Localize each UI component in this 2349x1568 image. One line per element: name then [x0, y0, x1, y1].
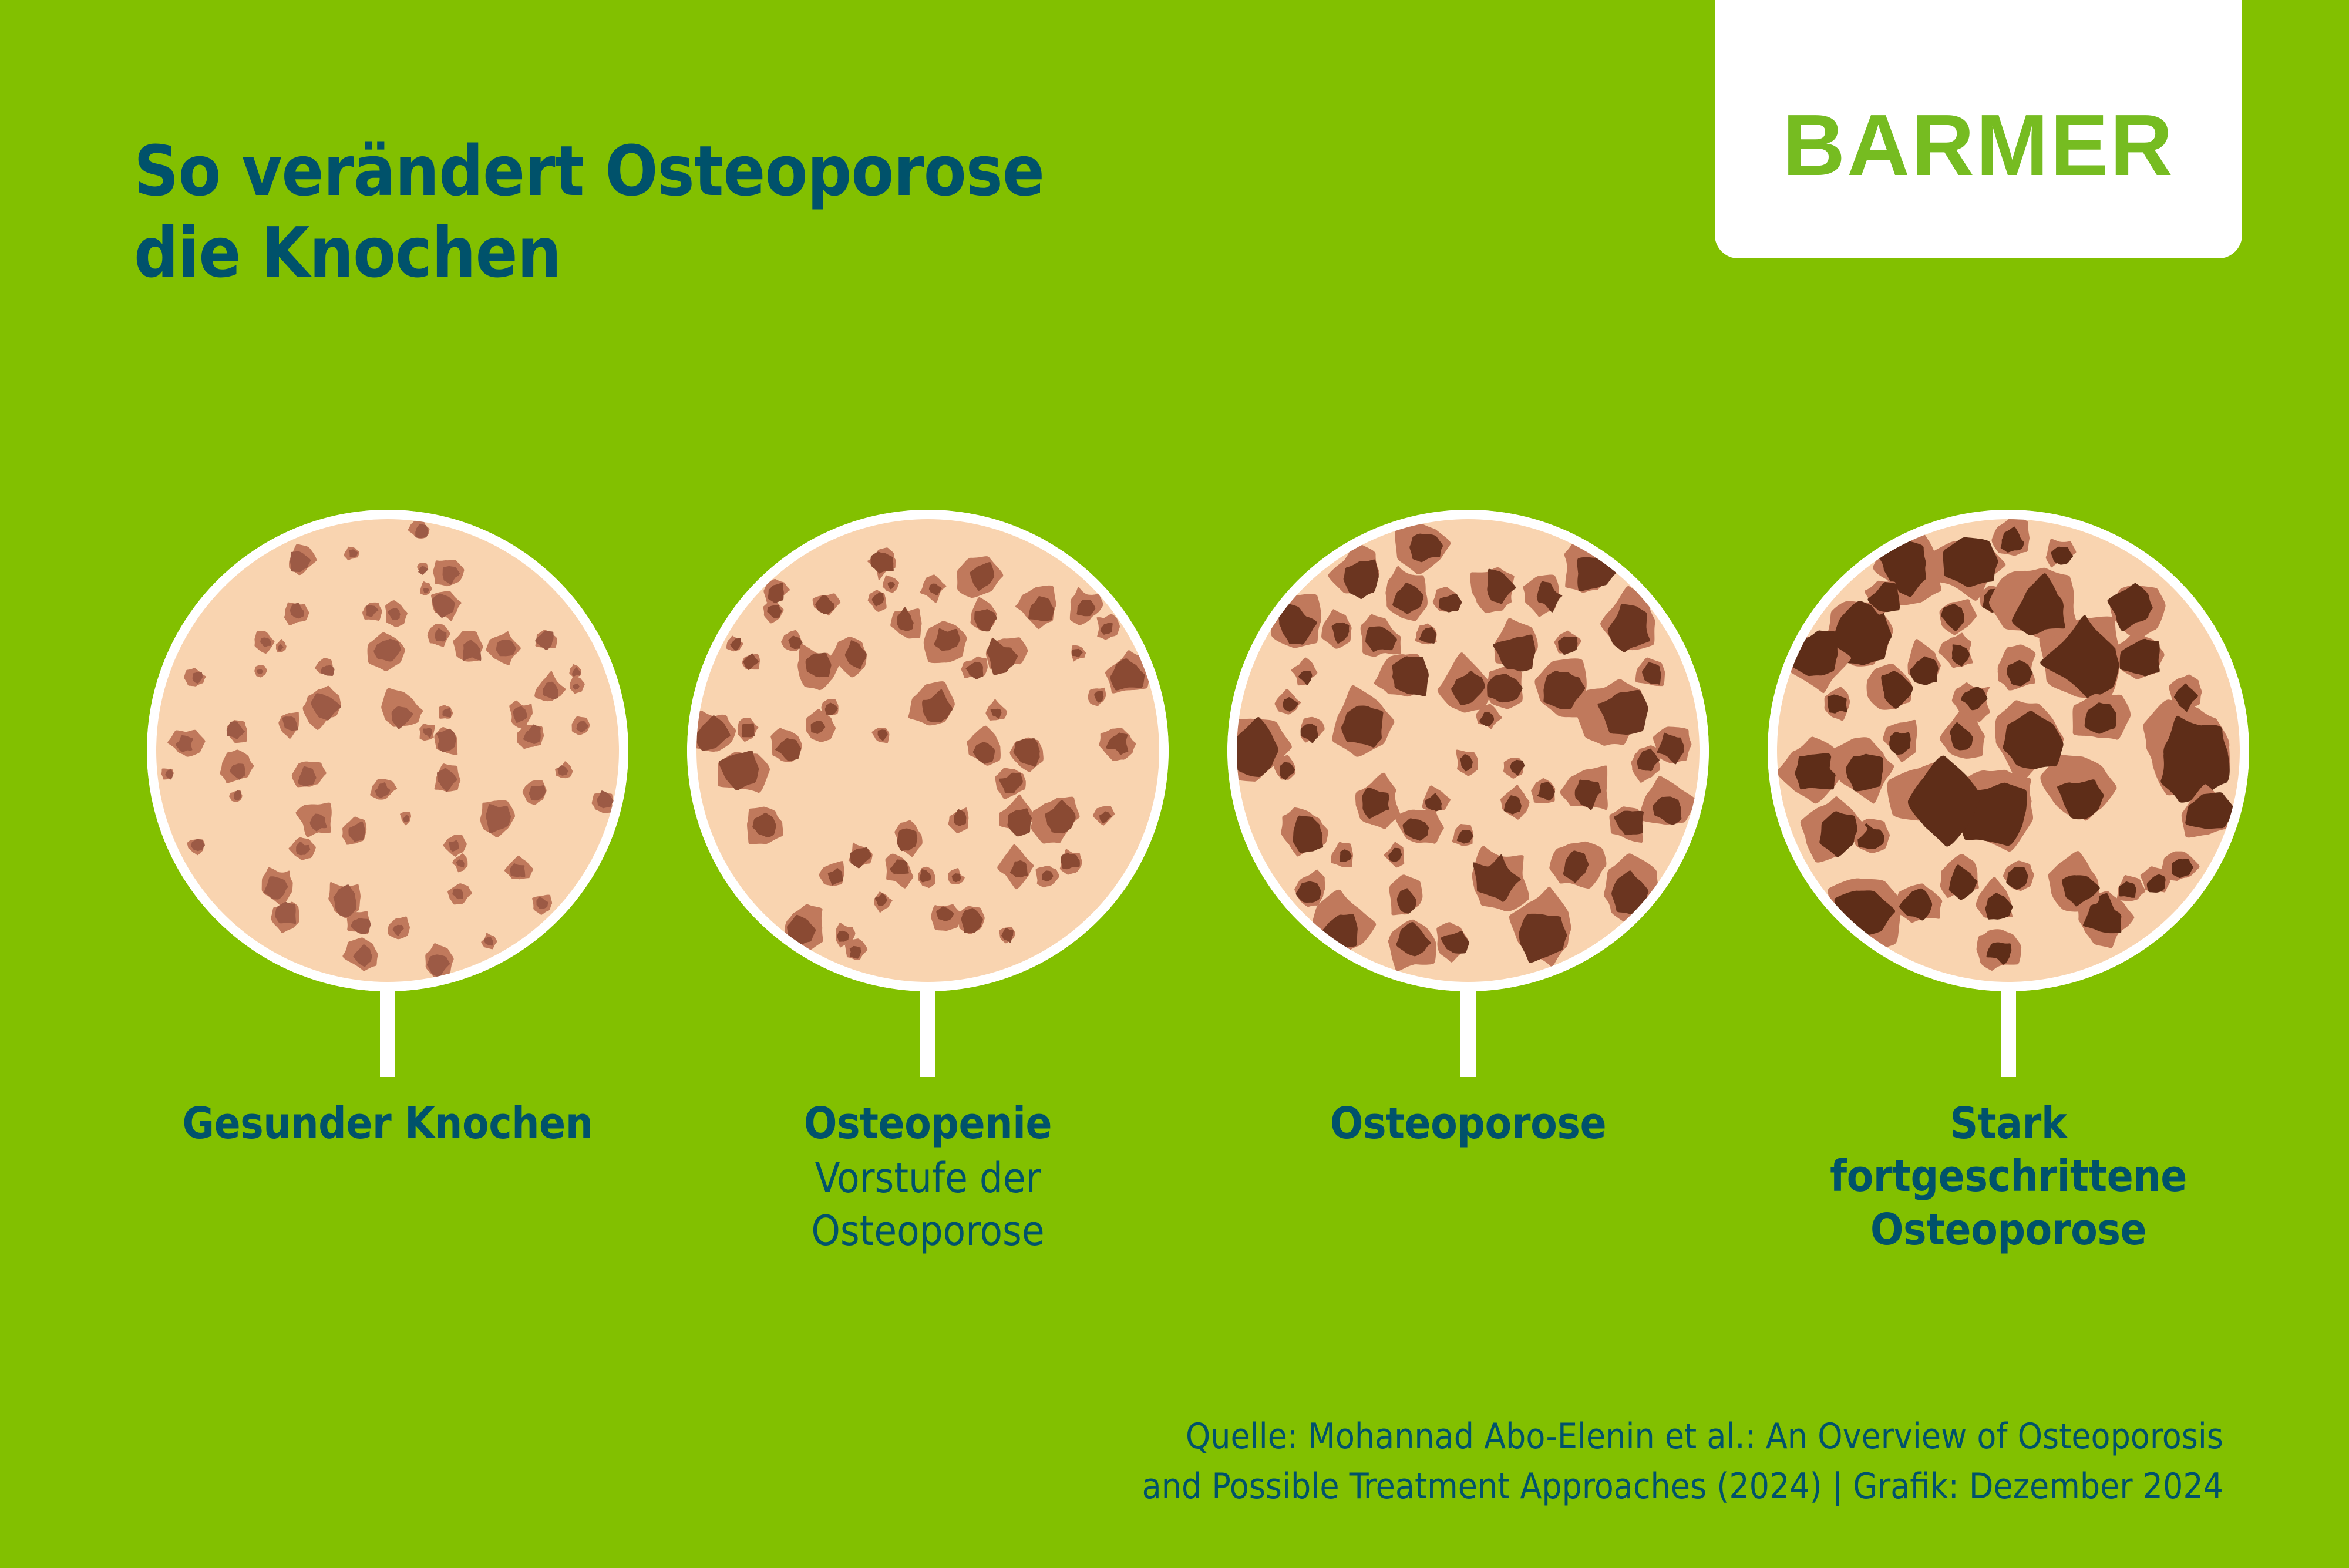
bone-stage-healthy: Gesunder Knochen: [117, 510, 658, 1015]
connector-stem-0: [380, 983, 395, 1077]
bone-label-3-line-2: fortgeschrittene: [1738, 1150, 2279, 1203]
barmer-logo: BARMER: [1715, 0, 2242, 258]
bone-circle-wrap-1: [658, 510, 1198, 1015]
bone-circle-wrap-3: [1738, 510, 2279, 1015]
bone-illustration-healthy: [147, 510, 628, 991]
bone-label-group-3: Stark fortgeschrittene Osteoporose: [1738, 1097, 2279, 1256]
source-note: Quelle: Mohannad Abo-Elenin et al.: An O…: [814, 1412, 2223, 1512]
bone-label-group-0: Gesunder Knochen: [117, 1097, 658, 1150]
bone-label-1: Osteopenie: [658, 1097, 1198, 1150]
bone-stage-osteoporose: Osteoporose: [1198, 510, 1738, 1015]
bone-label-3: Stark fortgeschrittene Osteoporose: [1738, 1097, 2279, 1256]
bone-stage-severe: Stark fortgeschrittene Osteoporose: [1738, 510, 2279, 1015]
bone-label-2: Osteoporose: [1198, 1097, 1738, 1150]
connector-stem-3: [2001, 983, 2016, 1077]
source-line-2: and Possible Treatment Approaches (2024)…: [814, 1462, 2223, 1512]
bone-circle-wrap-0: [117, 510, 658, 1015]
bone-label-group-1: Osteopenie Vorstufe der Osteoporose: [658, 1097, 1198, 1257]
page-title-line-1: So verändert Osteoporose: [134, 130, 1426, 212]
source-line-1: Quelle: Mohannad Abo-Elenin et al.: An O…: [814, 1412, 2223, 1462]
bone-illustration-osteopenie: [687, 510, 1169, 991]
bone-sublabel-1-line-2: Osteoporose: [658, 1205, 1198, 1258]
bone-label-group-2: Osteoporose: [1198, 1097, 1738, 1150]
bone-illustration-severe: [1768, 510, 2249, 991]
bone-stage-osteopenie: Osteopenie Vorstufe der Osteoporose: [658, 510, 1198, 1015]
barmer-logo-text: BARMER: [1782, 102, 2175, 258]
bone-illustration-osteoporose: [1227, 510, 1709, 991]
bone-sublabel-1: Vorstufe der Osteoporose: [658, 1152, 1198, 1257]
bone-label-3-line-1: Stark: [1738, 1097, 2279, 1150]
connector-stem-2: [1460, 983, 1476, 1077]
connector-stem-1: [920, 983, 935, 1077]
page-title-line-2: die Knochen: [134, 212, 1426, 294]
bone-circle-wrap-2: [1198, 510, 1738, 1015]
bone-label-0: Gesunder Knochen: [117, 1097, 658, 1150]
bone-sublabel-1-line-1: Vorstufe der: [658, 1152, 1198, 1205]
bone-label-3-line-3: Osteoporose: [1738, 1203, 2279, 1256]
page-title: So verändert Osteoporose die Knochen: [134, 130, 1426, 294]
